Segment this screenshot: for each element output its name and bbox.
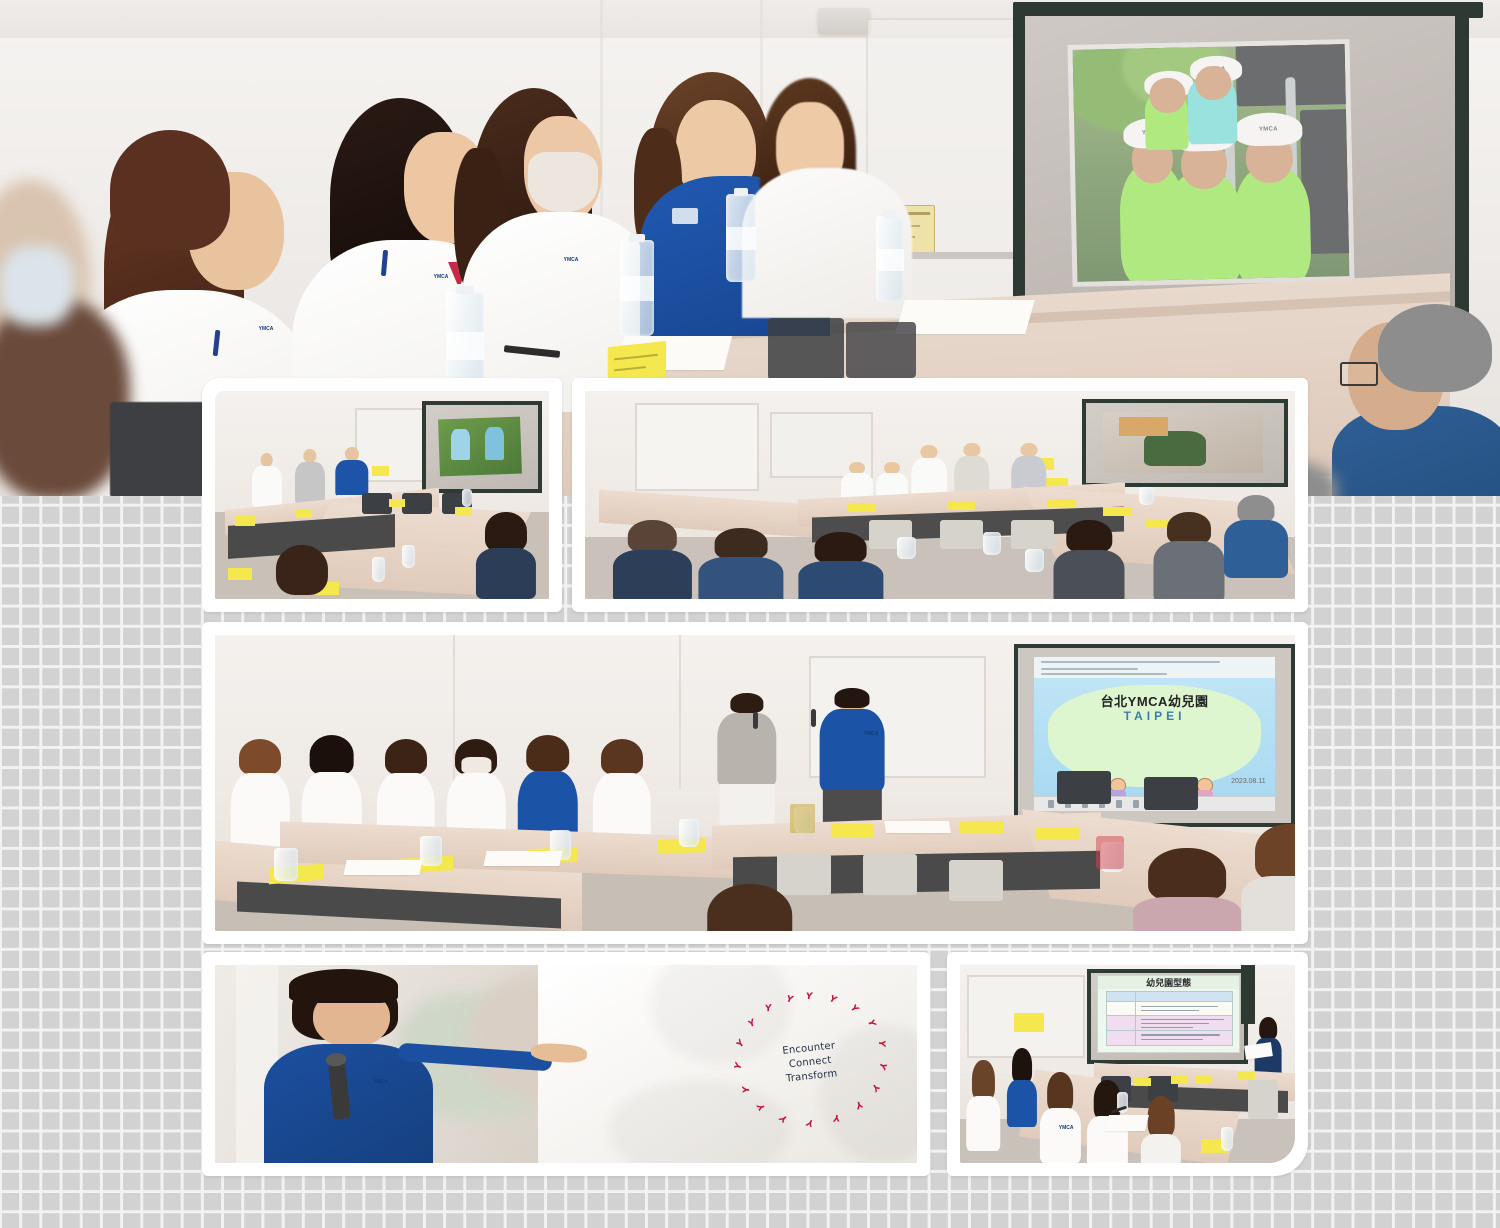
projection-screen	[422, 401, 542, 493]
screen-right-rail	[1455, 2, 1469, 348]
slide-scene: YMCA YMCA YMCA YMCA YMCA	[1073, 44, 1350, 282]
attendee	[1224, 495, 1288, 578]
collage-stage: YMCA YMCA YMCA YMCA YMCA	[0, 0, 1500, 1228]
water-bottle	[620, 240, 654, 336]
attendee-back	[476, 512, 536, 599]
table-row	[1106, 1015, 1233, 1031]
water-bottle	[876, 216, 904, 302]
attendee-back	[613, 520, 691, 599]
slide-title: 台北YMCA幼兒園	[1034, 691, 1275, 710]
ymca-logo-icon: YMCA	[250, 320, 282, 338]
projection-screen	[1082, 399, 1288, 486]
face-mask	[528, 152, 598, 212]
attendee-back	[1054, 520, 1125, 599]
attendee-back	[1133, 848, 1241, 931]
projection-screen: 幼兒園型態	[1087, 969, 1248, 1064]
speaker-male	[820, 691, 885, 839]
presenter	[295, 449, 325, 505]
person-hair	[1378, 304, 1492, 392]
microphone	[811, 709, 816, 727]
speaker-female	[717, 694, 776, 836]
ymca-logo-icon: YMCA	[556, 252, 586, 268]
presenter	[252, 453, 282, 507]
attendee-back	[268, 545, 335, 599]
attendee-back	[967, 1060, 1001, 1151]
photo-area: YMCA Y Y Y Y Y Y Y	[215, 965, 917, 1163]
blue-polo-logo-icon	[672, 208, 698, 224]
emblem-line-2: Connect	[788, 1054, 832, 1069]
row3-left-photo[interactable]: YMCA Y Y Y Y Y Y Y	[202, 952, 930, 1176]
row1-left-photo[interactable]	[202, 378, 562, 612]
emblem-line-1: Encounter	[782, 1040, 836, 1056]
schedule-slide: 幼兒園型態	[1097, 975, 1241, 1053]
row1-right-photo[interactable]	[572, 378, 1308, 612]
person-hair-top	[110, 130, 230, 250]
hero-slide-photo: YMCA YMCA YMCA YMCA YMCA	[1067, 39, 1354, 287]
name-tent-card	[1036, 827, 1079, 839]
speaker-hair-top	[289, 969, 398, 1003]
foreground-mask-blur	[0, 246, 74, 326]
table-row	[1106, 1001, 1233, 1016]
water-bottle	[726, 194, 756, 282]
photo-area	[215, 391, 549, 599]
ceiling-projector	[818, 8, 870, 34]
wall-note	[1014, 1013, 1044, 1033]
attendee-back	[1141, 1096, 1181, 1163]
attendee-back	[1241, 824, 1295, 931]
ymca-slogan-emblem: Y Y Y Y Y Y Y Y Y Y Y Y Y Y Y	[733, 997, 887, 1128]
emblem-line-3: Transform	[786, 1068, 838, 1084]
chair	[768, 318, 844, 380]
row2-wide-photo[interactable]: 台北YMCA幼兒園 TAIPEI Y M C	[202, 622, 1308, 944]
chair	[846, 322, 916, 378]
attendee-back	[701, 884, 798, 931]
attendee-back	[699, 528, 784, 599]
ymca-logo-icon: YMCA	[369, 1076, 391, 1088]
attendee-back	[1153, 512, 1224, 599]
name-tent-card	[1134, 1078, 1151, 1086]
name-tent-card	[960, 821, 1003, 833]
paper-sheet	[895, 300, 1035, 334]
ymca-logo-icon: YMCA	[1057, 1123, 1075, 1133]
eyeglasses-icon	[1340, 362, 1378, 386]
table-row	[1106, 1030, 1233, 1046]
photo-area	[585, 391, 1295, 599]
browser-chrome	[1034, 657, 1275, 680]
ymca-logo-icon: YMCA	[863, 730, 879, 739]
photo-area: 幼兒園型態	[960, 965, 1295, 1163]
microphone	[753, 712, 758, 729]
name-tent-card	[1171, 1076, 1188, 1084]
name-tent-card	[1195, 1076, 1212, 1084]
attendee-back	[1007, 1048, 1037, 1127]
slide-header: 幼兒園型態	[1098, 976, 1240, 989]
slide-subtitle: TAIPEI	[1034, 709, 1275, 723]
name-tent-card	[1238, 1072, 1255, 1080]
name-tent-card	[831, 824, 874, 836]
row3-right-photo[interactable]: 幼兒園型態	[947, 952, 1308, 1176]
attendee-back	[1040, 1072, 1080, 1163]
attendee-back	[798, 532, 883, 599]
slide-date: 2023.08.11	[1231, 778, 1266, 785]
photo-area: 台北YMCA幼兒園 TAIPEI Y M C	[215, 635, 1295, 931]
